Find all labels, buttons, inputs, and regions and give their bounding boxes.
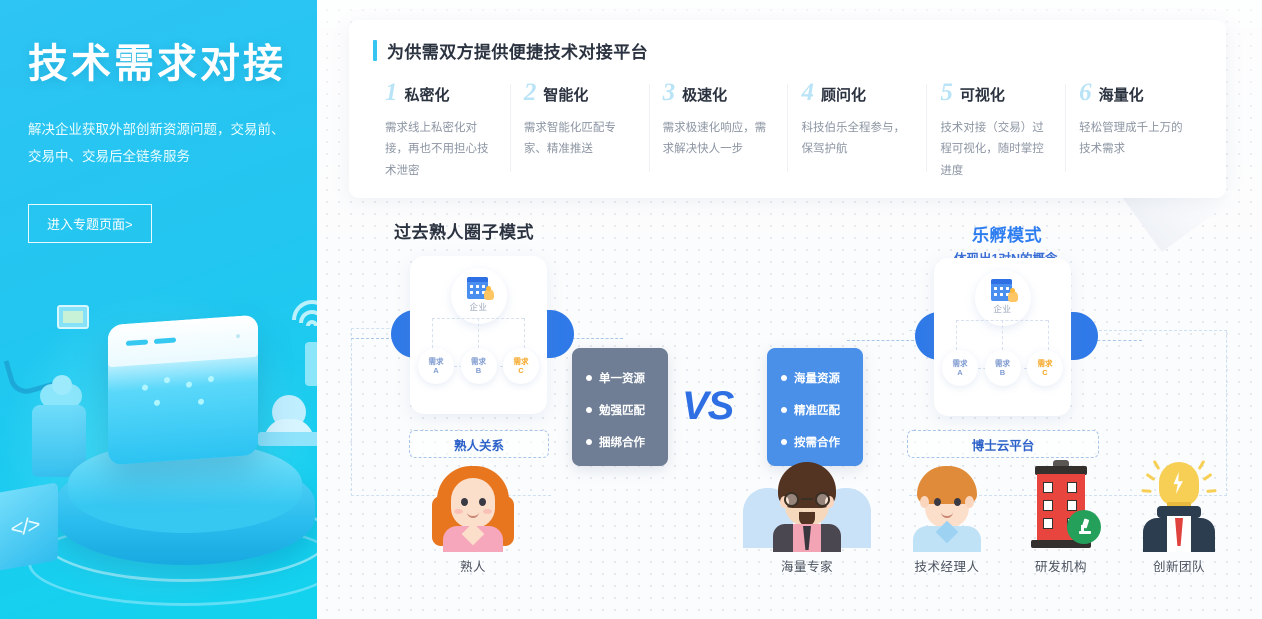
- tree-connector-left: [956, 320, 957, 350]
- feature-desc: 科技伯乐全程参与，保驾护航: [801, 118, 912, 161]
- tree-connector-right: [1048, 320, 1049, 350]
- page-title: 技术需求对接: [28, 42, 289, 86]
- feature-panel: 为供需双方提供便捷技术对接平台 1 私密化 需求线上私密化对接，再也不用担心技术…: [349, 20, 1226, 198]
- feature-item-header: 2 智能化: [524, 80, 635, 105]
- bullet-dot-icon: [586, 439, 592, 445]
- feature-number: 6: [1079, 80, 1092, 105]
- new-enterprise-card: 企业 需求A 需求B 需求C: [934, 258, 1071, 416]
- persona-label: 研发机构: [1001, 556, 1121, 575]
- device-top-face: [108, 315, 258, 367]
- feature-number: 1: [385, 80, 398, 105]
- tree-connector-left: [432, 318, 433, 348]
- device-dot-2: [164, 377, 170, 383]
- feature-item-header: 5 可视化: [940, 80, 1051, 105]
- bullet-dot-icon: [586, 375, 592, 381]
- old-bullet-2: 勉强匹配: [586, 394, 668, 426]
- connector-line-right-in: [847, 340, 919, 341]
- feature-desc: 轻松管理成千上万的技术需求: [1079, 118, 1190, 161]
- feature-item-header: 6 海量化: [1079, 80, 1190, 105]
- need-node-c[interactable]: 需求C: [503, 348, 539, 384]
- tree-connector-mid: [1002, 320, 1003, 350]
- tree-connector-right: [524, 318, 525, 348]
- feature-panel-title: 为供需双方提供便捷技术对接平台: [387, 38, 648, 63]
- device-dot-5: [154, 400, 160, 406]
- need-node-a[interactable]: 需求A: [942, 350, 978, 386]
- feature-name: 私密化: [405, 84, 450, 105]
- new-mode-title: 乐孵模式: [972, 221, 1042, 246]
- feature-name: 智能化: [543, 84, 588, 105]
- floating-device-box: [108, 315, 258, 465]
- feature-desc: 需求极速化响应，需求解决快人一步: [663, 118, 774, 161]
- accent-bar-icon: [373, 40, 377, 61]
- wifi-signal-icon: [292, 300, 317, 340]
- feature-number: 2: [524, 80, 537, 105]
- connector-line-right-out: [1092, 340, 1142, 341]
- tree-connector-bar: [956, 320, 1048, 321]
- need-node-row: 需求A 需求B 需求C: [418, 348, 539, 384]
- tree-connector-bar: [432, 318, 524, 319]
- feature-item-1[interactable]: 1 私密化 需求线上私密化对接，再也不用担心技术泄密: [371, 80, 510, 182]
- feature-number: 5: [940, 80, 953, 105]
- bullet-dot-icon: [781, 439, 787, 445]
- feature-name: 海量化: [1099, 84, 1144, 105]
- page-subtitle: 解决企业获取外部创新资源问题，交易前、交易中、交易后全链条服务: [28, 116, 289, 170]
- old-bullet-1: 单一资源: [586, 362, 668, 394]
- building-icon: [467, 277, 491, 299]
- new-mode-bullet-box: 海量资源 精准匹配 按需合作: [767, 348, 863, 466]
- person-badge-icon: [484, 289, 494, 300]
- feature-item-4[interactable]: 4 顾问化 科技伯乐全程参与，保驾护航: [787, 80, 926, 182]
- lightbulb-man-icon: [1137, 462, 1221, 550]
- note-decor-icon: [57, 305, 89, 329]
- need-node-a[interactable]: 需求A: [418, 348, 454, 384]
- persona-experts[interactable]: 海量专家: [747, 462, 867, 575]
- persona-label: 创新团队: [1119, 556, 1239, 575]
- new-bullet-2: 精准匹配: [781, 394, 863, 426]
- persona-rd-institution[interactable]: 研发机构: [1001, 462, 1121, 575]
- building-icon: [991, 279, 1015, 301]
- feature-number: 4: [801, 80, 814, 105]
- feature-grid: 1 私密化 需求线上私密化对接，再也不用担心技术泄密 2 智能化 需求智能化匹配…: [371, 80, 1204, 182]
- old-mode-lobe-right: [544, 310, 574, 358]
- feature-name: 极速化: [682, 84, 727, 105]
- microscope-badge-icon: [1067, 510, 1101, 544]
- feature-item-6[interactable]: 6 海量化 轻松管理成千上万的技术需求: [1065, 80, 1204, 182]
- building-lab-icon: [1019, 462, 1103, 550]
- need-node-b[interactable]: 需求B: [985, 350, 1021, 386]
- device-led-icon: [236, 334, 240, 338]
- persona-tech-manager[interactable]: 技术经理人: [887, 462, 1007, 575]
- tree-connector-mid: [478, 318, 479, 348]
- new-bullet-3: 按需合作: [781, 426, 863, 458]
- enterprise-label: 企业: [993, 303, 1011, 315]
- young-man-avatar-icon: [905, 462, 989, 550]
- enterprise-label: 企业: [469, 301, 487, 313]
- persona-acquaintance[interactable]: 熟人: [413, 462, 533, 575]
- feature-item-3[interactable]: 3 极速化 需求极速化响应，需求解决快人一步: [649, 80, 788, 182]
- feature-name: 顾问化: [821, 84, 866, 105]
- bullet-dot-icon: [781, 407, 787, 413]
- device-dot-4: [208, 376, 214, 382]
- old-mode-bullet-box: 单一资源 勉强匹配 捆绑合作: [572, 348, 668, 466]
- device-indicator-1: [126, 339, 148, 346]
- bullet-dot-icon: [781, 375, 787, 381]
- new-platform-label: 博士云平台: [907, 430, 1099, 458]
- persona-label: 海量专家: [747, 556, 867, 575]
- persona-innovation-team[interactable]: 创新团队: [1119, 462, 1239, 575]
- device-dot-1: [142, 384, 148, 390]
- person-figurine-decor: [272, 395, 306, 429]
- content-stage: 为供需双方提供便捷技术对接平台 1 私密化 需求线上私密化对接，再也不用担心技术…: [317, 0, 1262, 619]
- feature-name: 可视化: [960, 84, 1005, 105]
- old-enterprise-card: 企业 需求A 需求B 需求C: [410, 256, 547, 414]
- enterprise-node[interactable]: 企业: [451, 268, 507, 324]
- hero-panel: </> 技术需求对接 解决企业获取外部创新资源问题，交易前、交易中、交易后全链条…: [0, 0, 317, 619]
- persona-label: 熟人: [413, 556, 533, 575]
- device-indicator-2: [154, 337, 176, 344]
- old-bullet-3: 捆绑合作: [586, 426, 668, 458]
- feature-item-header: 4 顾问化: [801, 80, 912, 105]
- persona-row: 熟人 海量专家: [317, 462, 1262, 619]
- feature-item-header: 1 私密化: [385, 80, 496, 105]
- vs-label: VS: [682, 384, 733, 429]
- need-node-b[interactable]: 需求B: [461, 348, 497, 384]
- code-cube-icon: </>: [0, 482, 58, 572]
- device-dot-6: [198, 399, 204, 405]
- feature-item-2[interactable]: 2 智能化 需求智能化匹配专家、精准推送: [510, 80, 649, 182]
- panel-decor: [305, 342, 317, 386]
- feature-number: 3: [663, 80, 676, 105]
- old-platform-label: 熟人关系: [409, 430, 549, 458]
- new-bullet-1: 海量资源: [781, 362, 863, 394]
- desk-decor: [258, 432, 317, 446]
- enter-topic-page-button[interactable]: 进入专题页面>: [28, 204, 152, 243]
- feature-desc: 需求线上私密化对接，再也不用担心技术泄密: [385, 118, 496, 182]
- enterprise-node[interactable]: 企业: [975, 270, 1031, 326]
- feature-desc: 需求智能化匹配专家、精准推送: [524, 118, 635, 161]
- expert-avatar-icon: [765, 462, 849, 550]
- connector-line-left-out: [567, 338, 623, 339]
- persona-label: 技术经理人: [887, 556, 1007, 575]
- person-badge-icon: [1008, 291, 1018, 302]
- bullet-dot-icon: [586, 407, 592, 413]
- woman-avatar-icon: [431, 462, 515, 550]
- comparison-diagram: 过去熟人圈子模式 乐孵模式 体现出1对N的概念: [317, 200, 1262, 619]
- device-dot-3: [186, 381, 192, 387]
- feature-desc: 技术对接（交易）过程可视化，随时掌控进度: [940, 118, 1051, 182]
- old-mode-title: 过去熟人圈子模式: [394, 218, 534, 243]
- need-node-c[interactable]: 需求C: [1027, 350, 1063, 386]
- feature-item-5[interactable]: 5 可视化 技术对接（交易）过程可视化，随时掌控进度: [926, 80, 1065, 182]
- need-node-row: 需求A 需求B 需求C: [942, 350, 1063, 386]
- feature-item-header: 3 极速化: [663, 80, 774, 105]
- feature-panel-header: 为供需双方提供便捷技术对接平台: [371, 38, 1204, 63]
